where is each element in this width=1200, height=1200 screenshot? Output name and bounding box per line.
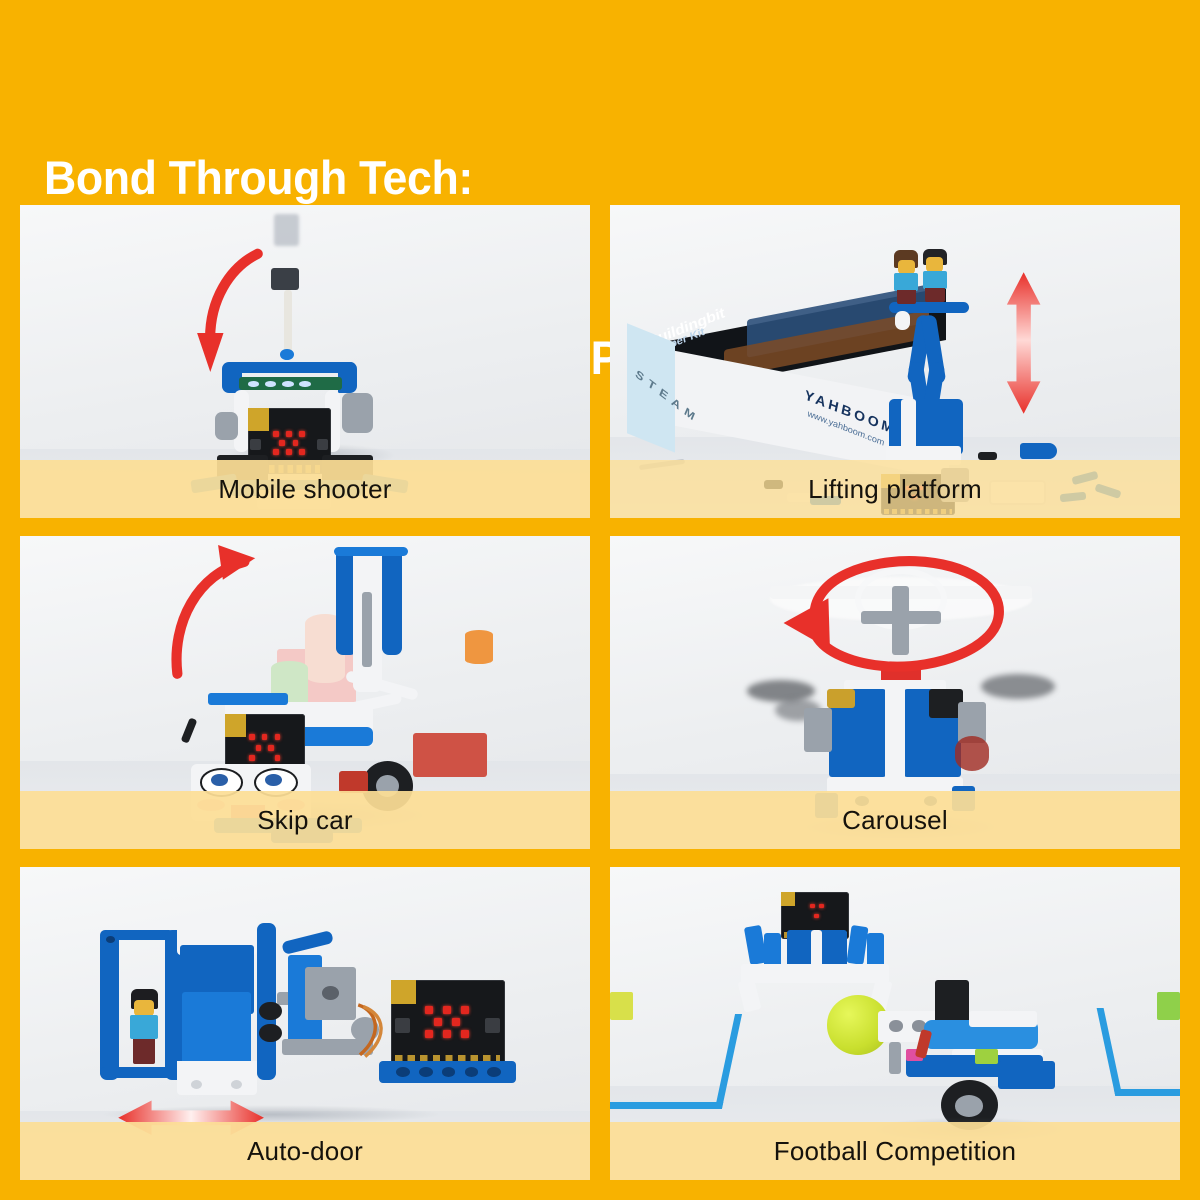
marker-block-right bbox=[1157, 992, 1180, 1020]
caption-auto-door: Auto-door bbox=[20, 1122, 590, 1180]
minifigure bbox=[128, 989, 160, 1064]
headline-line-1: Bond Through Tech: bbox=[44, 148, 1108, 208]
panel-football-competition[interactable]: Football Competition bbox=[610, 867, 1180, 1180]
arrow-vertical-double-icon bbox=[998, 271, 1049, 415]
product-showcase-grid: Mobile shooter Buildingbit Super Kit YAH… bbox=[20, 205, 1180, 1180]
panel-skip-car[interactable]: Skip car bbox=[20, 536, 590, 849]
minifigure-right bbox=[921, 249, 950, 302]
arrow-curved-up-right-icon bbox=[123, 545, 294, 683]
minifigure-left bbox=[892, 250, 921, 303]
fork-mast-right bbox=[382, 549, 403, 655]
projectile-blur bbox=[274, 214, 300, 245]
arrow-rotation-icon bbox=[684, 555, 1106, 686]
caption-lifting-platform: Lifting platform bbox=[610, 460, 1180, 518]
caption-mobile-shooter: Mobile shooter bbox=[20, 460, 590, 518]
panel-lifting-platform[interactable]: Buildingbit Super Kit YAHBOOM www.yahboo… bbox=[610, 205, 1180, 518]
panel-mobile-shooter[interactable]: Mobile shooter bbox=[20, 205, 590, 518]
caption-carousel: Carousel bbox=[610, 791, 1180, 849]
caption-football-competition: Football Competition bbox=[610, 1122, 1180, 1180]
marker-block-left bbox=[610, 992, 633, 1020]
servo-wires bbox=[339, 998, 419, 1067]
panel-auto-door[interactable]: Auto-door bbox=[20, 867, 590, 1180]
goal-right bbox=[1096, 1008, 1180, 1096]
caption-skip-car: Skip car bbox=[20, 791, 590, 849]
goal-left bbox=[610, 1014, 742, 1109]
prop-orange-cylinder bbox=[465, 630, 494, 664]
arrow-curved-down-left-icon bbox=[168, 243, 293, 387]
prop-red-block bbox=[413, 733, 487, 777]
door-panel-right bbox=[182, 992, 250, 1067]
panel-carousel[interactable]: Carousel bbox=[610, 536, 1180, 849]
